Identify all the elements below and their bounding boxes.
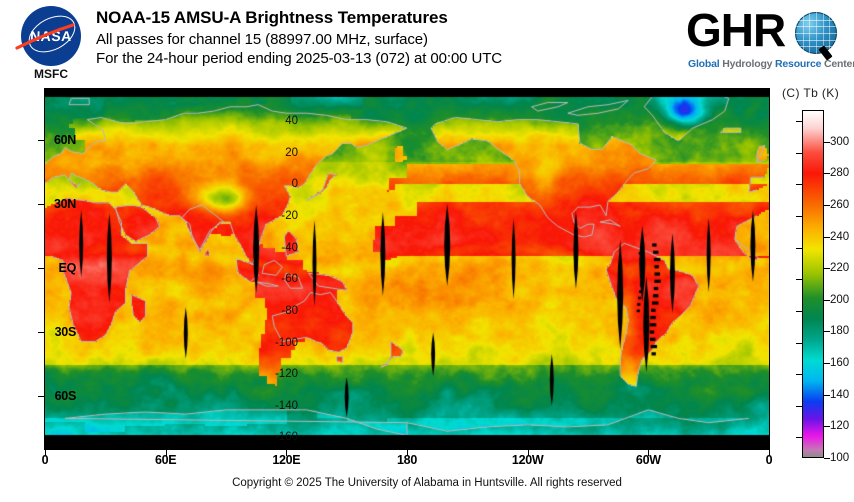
longitude-tick xyxy=(648,450,649,456)
colorbar-kelvin-label: 280 xyxy=(830,167,849,179)
colorbar-kelvin-label: 180 xyxy=(830,325,849,337)
ghrc-logo: GHR Global Hydrology Resource Center xyxy=(686,6,846,78)
colorbar-kelvin-label: 100 xyxy=(830,452,849,464)
colorbar-celsius-label: 0 xyxy=(256,178,298,190)
colorbar-kelvin-label: 260 xyxy=(830,199,849,211)
colorbar-celsius-tick xyxy=(796,248,802,249)
colorbar-celsius-label: -120 xyxy=(256,368,298,380)
colorbar-kelvin-label: 300 xyxy=(830,136,849,148)
longitude-tick xyxy=(166,450,167,456)
map-plot-frame xyxy=(44,88,770,450)
header: NASA MSFC NOAA-15 AMSU-A Brightness Temp… xyxy=(0,0,854,88)
colorbar-kelvin-tick xyxy=(824,458,830,459)
ghrc-word-1: Hydrology xyxy=(722,58,775,70)
longitude-tick xyxy=(769,450,770,456)
colorbar-kelvin-tick xyxy=(824,205,830,206)
colorbar-kelvin-label: 160 xyxy=(830,357,849,369)
nasa-center-label: MSFC xyxy=(14,67,88,81)
colorbar-celsius-label: -40 xyxy=(256,242,298,254)
colorbar-celsius-tick xyxy=(796,311,802,312)
colorbar-kelvin-label: 140 xyxy=(830,389,849,401)
latitude-tick xyxy=(38,204,44,205)
longitude-tick xyxy=(45,450,46,456)
colorbar-celsius-tick xyxy=(796,343,802,344)
latitude-label-60N: 60N xyxy=(16,133,76,147)
latitude-tick xyxy=(38,268,44,269)
latitude-label-30N: 30N xyxy=(16,197,76,211)
colorbar-celsius-tick xyxy=(796,374,802,375)
latitude-tick xyxy=(38,396,44,397)
colorbar-kelvin-tick xyxy=(824,395,830,396)
ghrc-word-3: Center xyxy=(824,58,854,70)
page-title: NOAA-15 AMSU-A Brightness Temperatures xyxy=(96,8,696,28)
colorbar-kelvin-tick xyxy=(824,363,830,364)
colorbar-kelvin-tick xyxy=(824,426,830,427)
latitude-label-30S: 30S xyxy=(16,325,76,339)
colorbar-kelvin-tick xyxy=(824,268,830,269)
colorbar-celsius-label: 40 xyxy=(256,115,298,127)
colorbar-kelvin-tick xyxy=(824,142,830,143)
colorbar-celsius-tick xyxy=(796,121,802,122)
map-raster xyxy=(45,94,769,444)
latitude-label-60S: 60S xyxy=(16,389,76,403)
colorbar-kelvin-label: 120 xyxy=(830,420,849,432)
colorbar-celsius-label: -60 xyxy=(256,273,298,285)
longitude-tick xyxy=(407,450,408,456)
colorbar-kelvin-tick xyxy=(824,237,830,238)
colorbar-kelvin-tick xyxy=(824,331,830,332)
colorbar-celsius-label: -80 xyxy=(256,305,298,317)
title-block: NOAA-15 AMSU-A Brightness Temperatures A… xyxy=(96,8,696,68)
copyright-notice: Copyright © 2025 The University of Alaba… xyxy=(0,477,854,489)
colorbar-celsius-label: 20 xyxy=(256,147,298,159)
colorbar-kelvin-label: 240 xyxy=(830,231,849,243)
colorbar-celsius-tick xyxy=(796,153,802,154)
colorbar-celsius-tick xyxy=(796,216,802,217)
ghrc-word-2: Resource xyxy=(775,58,824,70)
longitude-tick xyxy=(528,450,529,456)
globe-icon xyxy=(795,12,837,54)
longitude-tick xyxy=(286,450,287,456)
latitude-tick xyxy=(38,332,44,333)
colorbar-title: (C) Tb (K) xyxy=(782,86,839,100)
colorbar-celsius-label: -20 xyxy=(256,210,298,222)
colorbar-celsius-label: -140 xyxy=(256,400,298,412)
ghrc-word-0: Global xyxy=(688,58,722,70)
brightness-temperature-map[interactable] xyxy=(45,94,769,444)
colorbar-celsius-tick xyxy=(796,279,802,280)
latitude-tick xyxy=(38,140,44,141)
colorbar-celsius-label: -100 xyxy=(256,337,298,349)
subtitle-channel: All passes for channel 15 (88997.00 MHz,… xyxy=(96,30,696,49)
colorbar-kelvin-label: 220 xyxy=(830,262,849,274)
colorbar-celsius-label: -160 xyxy=(256,431,298,443)
colorbar-celsius-tick xyxy=(796,406,802,407)
nasa-logo: NASA MSFC xyxy=(14,6,88,84)
subtitle-period: For the 24-hour period ending 2025-03-13… xyxy=(96,49,696,68)
colorbar-kelvin-tick xyxy=(824,173,830,174)
ghrc-subtitle: Global Hydrology Resource Center xyxy=(688,58,846,70)
colorbar xyxy=(802,110,824,458)
colorbar-celsius-tick xyxy=(796,184,802,185)
latitude-label-EQ: EQ xyxy=(16,261,76,275)
colorbar-kelvin-tick xyxy=(824,300,830,301)
nasa-swoosh-icon xyxy=(15,24,75,50)
colorbar-kelvin-label: 200 xyxy=(830,294,849,306)
colorbar-celsius-tick xyxy=(796,437,802,438)
